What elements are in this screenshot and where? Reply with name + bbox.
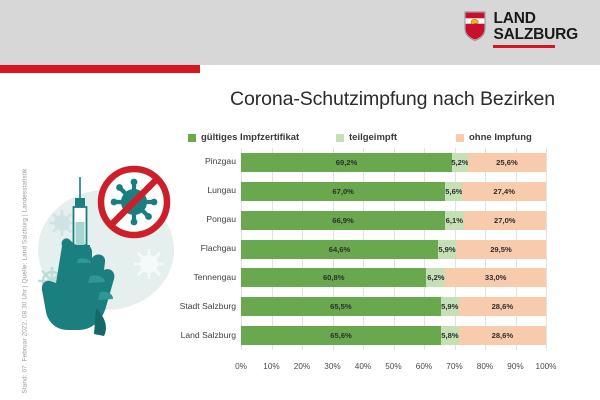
bar-value-label: 5,6% — [445, 187, 462, 196]
x-tick-label-5: 50% — [385, 362, 401, 371]
bar-value-label: 6,2% — [427, 273, 444, 282]
bar-value-label: 60,8% — [323, 273, 345, 282]
bar-value-label: 5,9% — [441, 302, 458, 311]
bar-value-label: 69,2% — [336, 158, 358, 167]
x-tick-label-9: 90% — [507, 362, 523, 371]
bar-row[interactable]: 67,0%5,6%27,4% — [241, 182, 546, 201]
gridline — [546, 148, 547, 350]
bar-segment-1[interactable]: 5,6% — [445, 182, 462, 201]
x-axis-ticks: 0%10%20%30%40%50%60%70%80%90%100% — [241, 362, 546, 374]
bar-segment-1[interactable]: 6,1% — [445, 211, 464, 230]
category-label-3: Flachgau — [126, 243, 236, 253]
bar-segment-2[interactable]: 28,6% — [459, 326, 546, 345]
legend-label-0: gültiges Impfzertifikat — [201, 132, 299, 143]
category-label-4: Tennengau — [126, 272, 236, 282]
bar-segment-0[interactable]: 60,8% — [241, 268, 426, 287]
x-tick-label-8: 80% — [477, 362, 493, 371]
bar-segment-2[interactable]: 29,5% — [456, 240, 546, 259]
legend-swatch-icon-1 — [336, 134, 344, 142]
x-tick-label-2: 20% — [294, 362, 310, 371]
salzburg-coat-of-arms-shield-icon — [464, 11, 486, 41]
bar-segment-2[interactable]: 27,4% — [462, 182, 546, 201]
bar-segment-0[interactable]: 65,5% — [241, 297, 441, 316]
category-label-1: Lungau — [126, 185, 236, 195]
bar-segment-0[interactable]: 65,6% — [241, 326, 441, 345]
legend-swatch-icon-0 — [188, 134, 196, 142]
bar-row[interactable]: 64,6%5,9%29,5% — [241, 240, 546, 259]
x-tick-label-4: 40% — [355, 362, 371, 371]
bar-value-label: 65,5% — [330, 302, 352, 311]
category-label-0: Pinzgau — [126, 156, 236, 166]
bar-row[interactable]: 60,8%6,2%33,0% — [241, 268, 546, 287]
legend-swatch-icon-2 — [456, 134, 464, 142]
bar-row[interactable]: 66,9%6,1%27,0% — [241, 211, 546, 230]
bar-segment-2[interactable]: 27,0% — [464, 211, 546, 230]
bar-row[interactable]: 69,2%5,2%25,6% — [241, 153, 546, 172]
bar-segment-0[interactable]: 67,0% — [241, 182, 445, 201]
bar-segment-1[interactable]: 5,2% — [452, 153, 468, 172]
bar-row[interactable]: 65,6%5,8%28,6% — [241, 326, 546, 345]
bar-value-label: 66,9% — [332, 216, 354, 225]
bar-segment-1[interactable]: 5,8% — [441, 326, 459, 345]
bar-value-label: 25,6% — [496, 158, 518, 167]
bar-value-label: 5,2% — [451, 158, 468, 167]
bar-value-label: 27,4% — [493, 187, 515, 196]
logo-line-2: SALZBURG — [493, 27, 578, 43]
bar-segment-1[interactable]: 5,9% — [441, 297, 459, 316]
land-salzburg-logo: LAND SALZBURG — [464, 11, 578, 48]
bar-value-label: 67,0% — [332, 187, 354, 196]
bar-segment-0[interactable]: 66,9% — [241, 211, 445, 230]
x-tick-label-3: 30% — [324, 362, 340, 371]
legend-item-2[interactable]: ohne Impfung — [456, 132, 532, 143]
x-tick-label-6: 60% — [416, 362, 432, 371]
category-label-2: Pongau — [126, 214, 236, 224]
bar-segment-2[interactable]: 33,0% — [445, 268, 546, 287]
category-label-6: Land Salzburg — [126, 330, 236, 340]
chart-legend: gültiges Impfzertifikatteilgeimpftohne I… — [188, 132, 578, 146]
legend-label-1: teilgeimpft — [349, 132, 397, 143]
bar-segment-1[interactable]: 5,9% — [438, 240, 456, 259]
bar-segment-2[interactable]: 25,6% — [468, 153, 546, 172]
chart-plot-area: Pinzgau69,2%5,2%25,6%Lungau67,0%5,6%27,4… — [0, 148, 600, 358]
bar-value-label: 27,0% — [494, 216, 516, 225]
bar-segment-2[interactable]: 28,6% — [459, 297, 546, 316]
x-tick-label-7: 70% — [446, 362, 462, 371]
category-label-5: Stadt Salzburg — [126, 301, 236, 311]
bar-row[interactable]: 65,5%5,9%28,6% — [241, 297, 546, 316]
logo-underline-rule — [493, 45, 555, 48]
x-tick-label-1: 10% — [263, 362, 279, 371]
legend-label-2: ohne Impfung — [469, 132, 532, 143]
bar-value-label: 5,9% — [438, 245, 455, 254]
bar-value-label: 64,6% — [329, 245, 351, 254]
bar-value-label: 6,1% — [446, 216, 463, 225]
x-tick-label-10: 100% — [536, 362, 557, 371]
bar-value-label: 29,5% — [490, 245, 512, 254]
bar-segment-1[interactable]: 6,2% — [426, 268, 445, 287]
legend-item-1[interactable]: teilgeimpft — [336, 132, 397, 143]
bar-segment-0[interactable]: 69,2% — [241, 153, 452, 172]
legend-item-0[interactable]: gültiges Impfzertifikat — [188, 132, 299, 143]
bar-value-label: 28,6% — [492, 302, 514, 311]
bar-value-label: 5,8% — [441, 331, 458, 340]
bar-value-label: 65,6% — [330, 331, 352, 340]
bar-value-label: 33,0% — [485, 273, 507, 282]
red-accent-bar — [0, 65, 200, 73]
bar-value-label: 28,6% — [492, 331, 514, 340]
logo-line-1: LAND — [493, 11, 578, 27]
x-tick-label-0: 0% — [235, 362, 247, 371]
chart-title: Corona-Schutzimpfung nach Bezirken — [200, 88, 585, 111]
bar-segment-0[interactable]: 64,6% — [241, 240, 438, 259]
